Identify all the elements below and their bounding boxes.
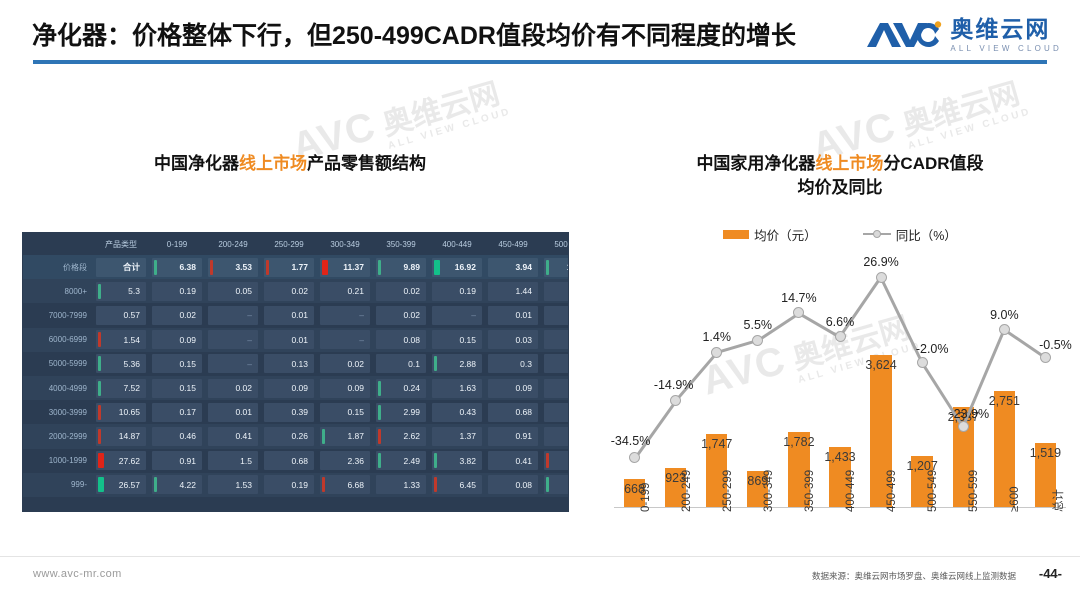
table-cell-value: 5.3: [96, 282, 146, 301]
table-cell: 0.01: [485, 303, 541, 327]
legend-bar-label: 均价（元）: [754, 225, 817, 244]
chart-x-tick-label: 总计: [1050, 489, 1066, 512]
table-cell-value: 0.13: [264, 354, 314, 373]
table-cell: 10.65: [93, 400, 149, 424]
table-cell: 1.87: [317, 424, 373, 448]
cell-indicator-bar: [98, 477, 104, 492]
chart-point-label: 14.7%: [765, 291, 832, 305]
cell-indicator-bar: [98, 284, 101, 299]
table-cell-value: 合计: [96, 258, 146, 277]
table-cell-value: 0.02: [152, 306, 202, 325]
table-cell-value: 0.01: [264, 306, 314, 325]
table-cell-value: 1.63: [432, 379, 482, 398]
cell-indicator-bar: [434, 477, 437, 492]
table-cell-value: 11.37: [320, 258, 370, 277]
chart-legend: 均价（元） 同比（%）: [600, 222, 1080, 246]
right-title-highlight: 线上市场: [815, 154, 883, 173]
table-cell: 3.82: [429, 449, 485, 473]
chart-point-label: 6.6%: [806, 315, 873, 329]
cell-indicator-bar: [154, 477, 157, 492]
table-row-label: 价格段: [23, 255, 93, 279]
table-cell: 1.44: [485, 279, 541, 303]
table-cell: 16.92: [429, 255, 485, 279]
table-cell-value: 0.3: [488, 354, 538, 373]
table-cell-value: 0.09: [488, 379, 538, 398]
table-cell: 0.19: [149, 279, 205, 303]
table-cell: 0.09: [261, 376, 317, 400]
table-cell-value: 1.44: [488, 282, 538, 301]
footer-divider: [0, 556, 1080, 557]
table-cell-value: 16.92: [432, 258, 482, 277]
table-cell-value: 6.68: [320, 475, 370, 494]
table-cell-value: 13.36: [544, 258, 568, 277]
right-title-pre: 中国家用净化器: [696, 154, 815, 173]
cell-indicator-bar: [378, 260, 381, 275]
table-cell-value: 0.19: [152, 282, 202, 301]
table-cell-value: 0.01: [264, 330, 314, 349]
table-cell-value: 0.1: [376, 354, 426, 373]
table-cell: 0.46: [149, 424, 205, 448]
table-cell-value: 2.49: [376, 451, 426, 470]
cell-indicator-bar: [434, 260, 440, 275]
left-panel-title: 中国净化器线上市场产品零售额结构: [60, 152, 520, 176]
chart-x-tick-label: 200-249: [681, 470, 693, 512]
right-panel-title: 中国家用净化器线上市场分CADR值段 均价及同比: [610, 152, 1070, 200]
table-cell-value: 0.39: [264, 403, 314, 422]
table-cell: 4.22: [149, 473, 205, 497]
table-row-label: 7000-7999: [23, 303, 93, 327]
table-cell: 0.15: [317, 400, 373, 424]
chart-bar-label: 869: [730, 474, 785, 488]
chart-x-tick-label: 500-549: [927, 470, 939, 512]
table-row: 4000-49997.520.150.020.090.090.241.630.0…: [23, 376, 568, 400]
table-cell: 1.33: [373, 473, 429, 497]
chart-line-point: [629, 452, 640, 463]
left-title-highlight: 线上市场: [239, 154, 307, 173]
logo-english-text: ALL VIEW CLOUD: [950, 44, 1062, 53]
table-col-header-2: 200-249: [205, 233, 261, 255]
cell-indicator-bar: [98, 429, 101, 444]
left-title-pre: 中国净化器: [154, 154, 239, 173]
chart-x-tick-label: ≥600: [1009, 487, 1021, 513]
table-cell-value: 0.15: [320, 403, 370, 422]
chart-point-label: -34.5%: [597, 434, 664, 448]
chart-point-label: 9.0%: [971, 308, 1038, 322]
table-cell-value: 2.88: [432, 354, 482, 373]
table-cell: 1.53: [205, 473, 261, 497]
chart-line-point: [835, 331, 846, 342]
table-cell: 1.5: [205, 449, 261, 473]
table-cell-value: 0.21: [320, 282, 370, 301]
table-cell-value: 6.45: [432, 475, 482, 494]
table-cell: 0.02: [541, 303, 568, 327]
table-cell-value: 0.15: [152, 354, 202, 373]
table-cell: 0.26: [261, 424, 317, 448]
table-cell-value: –: [208, 330, 258, 349]
table-cell: 0.09: [317, 376, 373, 400]
slide-header: 净化器：价格整体下行，但250-499CADR值段均价有不同程度的增长 奥维云网…: [0, 0, 1080, 68]
table-cell-value: 0.01: [208, 403, 258, 422]
table-row-label: 2000-2999: [23, 424, 93, 448]
table-cell-value: 0.43: [432, 403, 482, 422]
chart-line-point: [958, 421, 969, 432]
table-cell: 0.08: [373, 328, 429, 352]
table-cell-value: 2.62: [376, 427, 426, 446]
table-cell: 0.21: [317, 279, 373, 303]
chart-point-label: -0.5%: [1022, 338, 1080, 352]
table-cell-value: 6.38: [152, 258, 202, 277]
table-cell-value: 0.41: [208, 427, 258, 446]
table-cell: 0.02: [373, 279, 429, 303]
cell-indicator-bar: [210, 260, 213, 275]
table-cell: 1.37: [429, 424, 485, 448]
table-cell: 0.57: [93, 303, 149, 327]
table-row: 3000-399910.650.170.010.390.152.990.430.…: [23, 400, 568, 424]
chart-line-point: [752, 335, 763, 346]
cell-indicator-bar: [378, 453, 381, 468]
table-cell-value: 0.06: [544, 354, 568, 373]
cell-indicator-bar: [546, 477, 549, 492]
table-cell-value: 0.91: [152, 451, 202, 470]
retail-structure-table: 产品类型0-199200-249250-299300-349350-399400…: [23, 233, 568, 511]
table-cell-value: –: [208, 354, 258, 373]
table-cell: 1.54: [93, 328, 149, 352]
table-row-label: 4000-4999: [23, 376, 93, 400]
table-cell-value: 0.18: [544, 282, 568, 301]
page-title: 净化器：价格整体下行，但250-499CADR值段均价有不同程度的增长: [32, 16, 796, 52]
table-cell-value: 1.33: [376, 475, 426, 494]
table-cell-value: 0.08: [488, 475, 538, 494]
chart-x-tick-label: 550-599: [968, 470, 980, 512]
table-cell-value: 0.02: [376, 282, 426, 301]
table-cell: 0.15: [149, 376, 205, 400]
table-col-header-1: 0-199: [149, 233, 205, 255]
table-cell-value: 26.57: [96, 475, 146, 494]
table-cell: 0.91: [485, 424, 541, 448]
cell-indicator-bar: [322, 477, 325, 492]
table-cell: 5.94: [541, 473, 568, 497]
table-cell-value: 3.53: [208, 258, 258, 277]
chart-x-tick-label: 0-199: [640, 483, 652, 512]
table-cell-value: 0.68: [488, 403, 538, 422]
table-cell: –: [205, 303, 261, 327]
table-col-header-5: 350-399: [373, 233, 429, 255]
table-cell-value: 0.26: [264, 427, 314, 446]
table-cell-value: 3.94: [488, 258, 538, 277]
table-cell-value: –: [432, 306, 482, 325]
table-cell-value: 4.22: [152, 475, 202, 494]
table-cell: 7.52: [93, 376, 149, 400]
cell-indicator-bar: [266, 260, 269, 275]
cell-indicator-bar: [546, 260, 549, 275]
chart-line-point: [711, 347, 722, 358]
table-col-header-3: 250-299: [261, 233, 317, 255]
table-cell: 0.02: [317, 352, 373, 376]
table-cell: 5.1: [541, 449, 568, 473]
table-cell-value: 0.09: [320, 379, 370, 398]
table-col-header-6: 400-449: [429, 233, 485, 255]
table-cell: 0.08: [485, 473, 541, 497]
footer-source: 数据来源：奥维云网市场罗盘、奥维云网线上监测数据: [812, 570, 1016, 582]
chart-point-label: 5.5%: [724, 318, 791, 332]
cell-indicator-bar: [154, 260, 157, 275]
table-cell: 0.01: [261, 303, 317, 327]
chart-point-label: -2.0%: [899, 342, 966, 356]
table-row: 8000+5.30.190.050.020.210.020.191.440.18…: [23, 279, 568, 303]
page-number: -44-: [1039, 566, 1062, 581]
table-cell: 3.53: [205, 255, 261, 279]
table-cell-value: 27.62: [96, 451, 146, 470]
table-cell: 1.63: [429, 376, 485, 400]
table-cell: –: [317, 303, 373, 327]
table-row: 999-26.574.221.530.196.681.336.450.085.9…: [23, 473, 568, 497]
table-cell-value: 0.02: [376, 306, 426, 325]
table-cell-value: –: [208, 306, 258, 325]
avc-logo: 奥维云网 ALL VIEW CLOUD: [865, 14, 1062, 56]
table-cell: 0.18: [541, 279, 568, 303]
table-header-row: 产品类型0-199200-249250-299300-349350-399400…: [23, 233, 568, 255]
table-cell-value: 0.19: [264, 475, 314, 494]
table-cell: 0.19: [429, 279, 485, 303]
chart-bar-label: 1,207: [895, 459, 950, 473]
table-cell: 13.36: [541, 255, 568, 279]
table-col-header-4: 300-349: [317, 233, 373, 255]
logo-chinese-text: 奥维云网: [950, 18, 1062, 41]
table-cell-value: 1.54: [96, 330, 146, 349]
table-col-header-8: 500-549: [541, 233, 568, 255]
table-row-label: 3000-3999: [23, 400, 93, 424]
table-cell: 9.89: [373, 255, 429, 279]
chart-x-tick-label: 300-349: [763, 470, 775, 512]
cell-indicator-bar: [378, 429, 381, 444]
table-cell-value: 1.53: [208, 475, 258, 494]
table-row-label: 6000-6999: [23, 328, 93, 352]
table-cell: –: [205, 352, 261, 376]
cell-indicator-bar: [322, 260, 328, 275]
title-underline: [33, 60, 1047, 64]
table-cell-value: 0.02: [544, 306, 568, 325]
right-title-post: 分CADR值段: [883, 154, 983, 173]
table-cell-value: 0.41: [488, 451, 538, 470]
table-cell: –: [317, 328, 373, 352]
table-cell: 2.49: [373, 449, 429, 473]
table-head: 产品类型0-199200-249250-299300-349350-399400…: [23, 233, 568, 255]
table-cell-value: 0.57: [544, 379, 568, 398]
table-cell-value: 0.02: [208, 379, 258, 398]
avc-logo-mark: [865, 20, 943, 50]
legend-item-line: 同比（%）: [863, 225, 957, 244]
chart-line-segment: [633, 399, 676, 458]
legend-bar-swatch-icon: [723, 230, 749, 239]
table-cell: 0.1: [541, 328, 568, 352]
table-cell-value: 0.02: [320, 354, 370, 373]
table-cell: 0.15: [149, 352, 205, 376]
table-cell-value: 2.36: [320, 451, 370, 470]
cell-indicator-bar: [98, 356, 101, 371]
chart-x-tick-label: 400-449: [845, 470, 857, 512]
table-cell: 6.38: [149, 255, 205, 279]
legend-line-label: 同比（%）: [896, 225, 957, 244]
table-row-label: 5000-5999: [23, 352, 93, 376]
chart-line-point: [1040, 352, 1051, 363]
table-cell-value: 14.87: [96, 427, 146, 446]
chart-point-label: 1.4%: [683, 330, 750, 344]
chart-bar-label: 3,624: [854, 358, 909, 372]
table-cell: 3.94: [485, 255, 541, 279]
chart-bar-label: 1,433: [812, 450, 867, 464]
table-cell: 0.05: [205, 279, 261, 303]
cell-indicator-bar: [98, 453, 104, 468]
table-cell: 2.88: [429, 352, 485, 376]
chart-point-label: -23.9%: [936, 407, 1003, 421]
table-cell: 2.99: [373, 400, 429, 424]
table-cell-value: 0.19: [432, 282, 482, 301]
table-cell-value: 1.5: [208, 451, 258, 470]
table-cell: 27.62: [93, 449, 149, 473]
chart-bar-label: 1,747: [689, 437, 744, 451]
legend-item-bar: 均价（元）: [723, 225, 817, 244]
table-cell: –: [429, 303, 485, 327]
table-cell-value: 0.09: [264, 379, 314, 398]
table-corner-header: [23, 233, 93, 255]
table-cell-value: 0.01: [488, 306, 538, 325]
cell-indicator-bar: [434, 453, 437, 468]
table-row-label: 999-: [23, 473, 93, 497]
cell-indicator-bar: [546, 453, 549, 468]
table-cell-value: 1.01: [544, 427, 568, 446]
table-cell: 0.02: [261, 279, 317, 303]
table-cell-value: 1.77: [264, 258, 314, 277]
table-cell: 14.87: [93, 424, 149, 448]
table-cell-value: 0.17: [152, 403, 202, 422]
table-cell: 0.39: [261, 400, 317, 424]
chart-x-tick-label: 250-299: [722, 470, 734, 512]
table: 产品类型0-199200-249250-299300-349350-399400…: [23, 233, 568, 497]
chart-line-point: [917, 357, 928, 368]
table-cell: 1.01: [541, 424, 568, 448]
table-cell: 0.02: [205, 376, 261, 400]
chart-line-point: [876, 272, 887, 283]
table-cell: 2.36: [317, 449, 373, 473]
table-cell: 6.45: [429, 473, 485, 497]
table-row: 6000-69991.540.09–0.01–0.080.150.030.10.…: [23, 328, 568, 352]
table-cell: 0.06: [541, 352, 568, 376]
cadr-price-chart: 均价（元） 同比（%） 6689231,7478691,7821,4333,62…: [600, 222, 1080, 522]
table-cell-value: 2.99: [376, 403, 426, 422]
table-cell-value: 0.37: [544, 403, 568, 422]
table-cell-value: 5.94: [544, 475, 568, 494]
table-row: 价格段合计6.383.531.7711.379.8916.923.9413.36…: [23, 255, 568, 279]
chart-line-point: [670, 395, 681, 406]
cell-indicator-bar: [322, 429, 325, 444]
left-title-post: 产品零售额结构: [307, 154, 426, 173]
chart-line-segment: [675, 351, 718, 401]
cell-indicator-bar: [378, 381, 381, 396]
table-cell-value: –: [320, 330, 370, 349]
chart-point-label: 26.9%: [848, 255, 915, 269]
table-cell-value: 9.89: [376, 258, 426, 277]
table-cell: 0.41: [205, 424, 261, 448]
chart-line-point: [999, 324, 1010, 335]
table-cell-value: 0.08: [376, 330, 426, 349]
chart-bar-label: 923: [648, 471, 703, 485]
table-col-header-7: 450-499: [485, 233, 541, 255]
table-cell-value: 0.03: [488, 330, 538, 349]
table-cell: 0.43: [429, 400, 485, 424]
table-cell: 0.01: [261, 328, 317, 352]
cell-indicator-bar: [378, 405, 381, 420]
table-cell-value: 7.52: [96, 379, 146, 398]
cell-indicator-bar: [98, 332, 101, 347]
table-cell-value: 10.65: [96, 403, 146, 422]
table-cell: 1.77: [261, 255, 317, 279]
table-cell: 11.37: [317, 255, 373, 279]
chart-x-tick-label: 350-399: [804, 470, 816, 512]
table-cell: 0.41: [485, 449, 541, 473]
table-cell: 0.57: [541, 376, 568, 400]
table-cell: 0.09: [149, 328, 205, 352]
table-cell-value: 0.05: [208, 282, 258, 301]
table-row: 2000-299914.870.460.410.261.872.621.370.…: [23, 424, 568, 448]
footer-website: www.avc-mr.com: [33, 568, 122, 580]
table-cell-value: 3.82: [432, 451, 482, 470]
table-cell: 合计: [93, 255, 149, 279]
table-cell: 0.37: [541, 400, 568, 424]
table-cell: 5.3: [93, 279, 149, 303]
table-cell: 0.3: [485, 352, 541, 376]
table-cell-value: 1.87: [320, 427, 370, 446]
table-cell: 0.1: [373, 352, 429, 376]
table-cell-value: 0.91: [488, 427, 538, 446]
table-cell: 0.19: [261, 473, 317, 497]
table-cell-value: 0.09: [152, 330, 202, 349]
chart-x-tick-label: 450-499: [886, 470, 898, 512]
table-row-label: 1000-1999: [23, 449, 93, 473]
chart-bar-label: 1,519: [1018, 446, 1073, 460]
table-row-label: 8000+: [23, 279, 93, 303]
table-cell: 6.68: [317, 473, 373, 497]
table-cell: 0.02: [149, 303, 205, 327]
table-cell-value: 0.57: [96, 306, 146, 325]
table-cell-value: 5.36: [96, 354, 146, 373]
table-cell-value: 1.37: [432, 427, 482, 446]
table-body: 价格段合计6.383.531.7711.379.8916.923.9413.36…: [23, 255, 568, 497]
chart-point-label: -14.9%: [640, 378, 707, 392]
table-cell: 0.68: [485, 400, 541, 424]
cell-indicator-bar: [98, 381, 101, 396]
table-cell-value: 5.1: [544, 451, 568, 470]
table-cell: 0.24: [373, 376, 429, 400]
table-cell-value: 0.46: [152, 427, 202, 446]
table-cell: 0.02: [373, 303, 429, 327]
table-cell: 0.15: [429, 328, 485, 352]
table-row: 5000-59995.360.15–0.130.020.12.880.30.06…: [23, 352, 568, 376]
table-cell: 5.36: [93, 352, 149, 376]
cell-indicator-bar: [434, 356, 437, 371]
table-cell-value: 0.68: [264, 451, 314, 470]
legend-line-swatch-icon: [863, 230, 891, 239]
right-title-line2: 均价及同比: [798, 178, 883, 197]
table-cell-value: 0.15: [152, 379, 202, 398]
table-cell-value: –: [320, 306, 370, 325]
table-cell-value: 0.1: [544, 330, 568, 349]
table-cell: 0.68: [261, 449, 317, 473]
table-cell: 0.03: [485, 328, 541, 352]
chart-bar-label: 1,782: [771, 435, 826, 449]
cell-indicator-bar: [98, 405, 101, 420]
table-cell: 0.91: [149, 449, 205, 473]
table-col-header-0: 产品类型: [93, 233, 149, 255]
